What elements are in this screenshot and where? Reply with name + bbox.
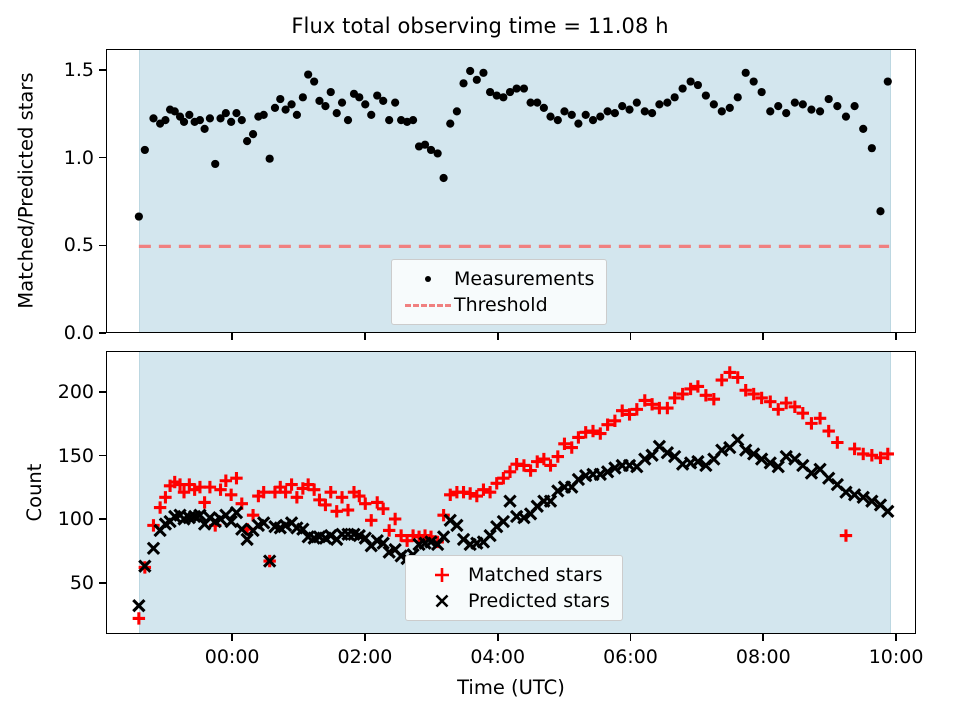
data-point (859, 125, 867, 133)
data-point (133, 612, 145, 624)
data-point (133, 600, 144, 611)
data-point (196, 116, 204, 124)
data-point (359, 497, 371, 509)
data-point (840, 529, 852, 541)
data-point (243, 137, 251, 145)
data-point (884, 77, 892, 85)
data-point (679, 84, 687, 92)
data-point (758, 88, 766, 96)
data-point (648, 109, 656, 117)
data-point (230, 472, 242, 484)
data-point (611, 109, 619, 117)
data-point (149, 114, 157, 122)
data-point (135, 212, 143, 220)
x-tick-mark (231, 634, 233, 641)
data-point (633, 98, 641, 106)
y-tick-mark (99, 157, 106, 159)
data-point (293, 111, 301, 119)
data-point (538, 453, 550, 465)
data-point (365, 514, 377, 526)
x-tick-mark (762, 634, 764, 641)
x-tick-mark (364, 333, 366, 340)
top-panel-y-axis-label: Matched/Predicted stars (15, 19, 38, 363)
bottom-panel-legend: Matched stars Predicted stars (405, 555, 623, 621)
data-point (604, 107, 612, 115)
data-point (734, 93, 742, 101)
x-axis-label: Time (UTC) (106, 676, 916, 699)
data-point (338, 98, 346, 106)
data-point (180, 118, 188, 126)
data-point (791, 98, 799, 106)
x-tick-mark (762, 333, 764, 340)
data-point (484, 486, 496, 498)
x-tick-mark (895, 333, 897, 340)
red-plus-marker-icon (416, 565, 468, 585)
data-point (587, 425, 599, 437)
data-point (451, 520, 462, 531)
data-point (742, 69, 750, 77)
scatter-dot-icon (402, 276, 454, 282)
black-x-marker-icon (416, 591, 468, 611)
data-point (391, 98, 399, 106)
data-point (464, 487, 476, 499)
data-point (321, 102, 329, 110)
data-point (444, 489, 456, 501)
data-point (291, 491, 303, 503)
legend-item-matched-stars: Matched stars (416, 562, 610, 588)
legend-label-measurements: Measurements (454, 268, 594, 290)
data-point (618, 102, 626, 110)
data-point (333, 109, 341, 117)
data-point (361, 100, 369, 108)
data-point (331, 505, 343, 517)
data-point (766, 107, 774, 115)
data-point (459, 79, 467, 87)
data-point (232, 109, 240, 117)
data-point (686, 77, 694, 85)
legend-label-threshold: Threshold (454, 294, 548, 316)
data-point (383, 524, 395, 536)
data-point (440, 174, 448, 182)
x-tick-mark (630, 333, 632, 340)
data-point (385, 116, 393, 124)
data-point (342, 504, 354, 516)
x-tick-mark (630, 634, 632, 641)
data-point (453, 107, 461, 115)
data-point (504, 496, 515, 507)
data-point (185, 111, 193, 119)
x-tick-mark (497, 634, 499, 641)
data-point (661, 402, 673, 414)
figure-title: Flux total observing time = 11.08 h (0, 14, 960, 38)
data-point (287, 100, 295, 108)
data-point (473, 76, 481, 84)
data-point (520, 84, 528, 92)
y-tick-mark (99, 518, 106, 520)
data-point (552, 450, 564, 462)
data-point (882, 506, 893, 517)
data-point (249, 130, 257, 138)
data-point (842, 113, 850, 121)
x-tick-mark (895, 634, 897, 641)
data-point (782, 109, 790, 117)
y-tick-label: 50 (9, 572, 94, 594)
legend-item-threshold: Threshold (402, 292, 594, 318)
data-point (204, 481, 216, 493)
data-point (594, 427, 606, 439)
bottom-panel-y-axis-label: Count (23, 321, 46, 664)
data-point (772, 403, 784, 415)
data-point (531, 455, 543, 467)
data-point (499, 93, 507, 101)
data-point (260, 111, 268, 119)
data-point (540, 104, 548, 112)
legend-label-matched-stars: Matched stars (468, 564, 602, 586)
data-point (574, 120, 582, 128)
data-point (389, 513, 401, 525)
data-point (238, 116, 246, 124)
data-point (710, 100, 718, 108)
data-point (831, 436, 843, 448)
y-tick-label: 150 (9, 445, 94, 467)
data-point (807, 106, 815, 114)
data-point (285, 478, 297, 490)
dashed-line-icon (402, 304, 454, 307)
data-point (327, 88, 335, 96)
x-tick-label: 10:00 (869, 646, 924, 668)
data-point (850, 102, 858, 110)
data-point (825, 95, 833, 103)
data-point (568, 111, 576, 119)
y-tick-mark (99, 69, 106, 71)
data-point (498, 516, 509, 527)
data-point (625, 106, 633, 114)
data-point (367, 111, 375, 119)
data-point (560, 107, 568, 115)
y-tick-label: 200 (9, 381, 94, 403)
data-point (434, 149, 442, 157)
data-point (471, 490, 483, 502)
data-point (325, 486, 337, 498)
x-tick-mark (364, 634, 366, 641)
data-point (479, 69, 487, 77)
data-point (141, 146, 149, 154)
data-point (663, 98, 671, 106)
data-point (641, 107, 649, 115)
data-point (799, 100, 807, 108)
data-point (161, 116, 169, 124)
data-point (200, 125, 208, 133)
data-point (533, 98, 541, 106)
data-point (276, 95, 284, 103)
data-point (833, 102, 841, 110)
data-point (225, 489, 237, 501)
data-point (198, 496, 210, 508)
data-point (816, 107, 824, 115)
data-point (868, 144, 876, 152)
data-point (692, 380, 704, 392)
data-point (732, 434, 743, 445)
data-point (477, 483, 489, 495)
data-point (148, 543, 159, 554)
data-point (702, 91, 710, 99)
data-point (589, 116, 597, 124)
data-point (596, 113, 604, 121)
data-point (774, 102, 782, 110)
data-point (822, 425, 834, 437)
data-point (271, 104, 279, 112)
data-point (222, 109, 230, 117)
data-point (716, 374, 728, 386)
series-measurements (135, 67, 892, 221)
y-tick-mark (99, 582, 106, 584)
data-point (446, 120, 454, 128)
legend-item-predicted-stars: Predicted stars (416, 588, 610, 614)
data-point (655, 100, 663, 108)
legend-item-measurements: Measurements (402, 266, 594, 292)
data-point (582, 111, 590, 119)
x-tick-label: 06:00 (603, 646, 658, 668)
data-point (377, 503, 389, 515)
data-point (545, 496, 556, 507)
data-point (554, 116, 562, 124)
data-point (355, 93, 363, 101)
data-point (866, 449, 878, 461)
data-point (336, 491, 348, 503)
data-point (726, 104, 734, 112)
data-point (546, 113, 554, 121)
y-tick-mark (99, 391, 106, 393)
data-point (750, 77, 758, 85)
y-tick-mark (99, 245, 106, 247)
data-point (797, 407, 809, 419)
x-tick-mark (231, 333, 233, 340)
data-point (513, 84, 521, 92)
data-point (694, 81, 702, 89)
data-point (304, 70, 312, 78)
y-tick-mark (99, 332, 106, 334)
y-tick-mark (99, 455, 106, 457)
top-panel-legend: Measurements Threshold (391, 259, 607, 325)
data-point (466, 67, 474, 75)
data-point (544, 459, 556, 471)
data-point (484, 530, 495, 541)
data-point (718, 107, 726, 115)
data-point (409, 116, 417, 124)
data-point (876, 207, 884, 215)
x-tick-label: 02:00 (338, 646, 393, 668)
x-tick-label: 08:00 (736, 646, 791, 668)
x-tick-label: 00:00 (205, 646, 260, 668)
data-point (310, 77, 318, 85)
legend-label-predicted-stars: Predicted stars (468, 590, 610, 612)
data-point (371, 496, 383, 508)
data-point (211, 160, 219, 168)
x-tick-label: 04:00 (470, 646, 525, 668)
x-tick-mark (497, 333, 499, 340)
data-point (671, 93, 679, 101)
figure-canvas: Flux total observing time = 11.08 h 0.00… (0, 0, 960, 720)
data-point (379, 97, 387, 105)
y-tick-label: 100 (9, 508, 94, 530)
data-point (504, 466, 516, 478)
data-point (299, 93, 307, 101)
data-point (227, 118, 235, 126)
data-point (266, 155, 274, 163)
data-point (344, 116, 352, 124)
data-point (206, 114, 214, 122)
